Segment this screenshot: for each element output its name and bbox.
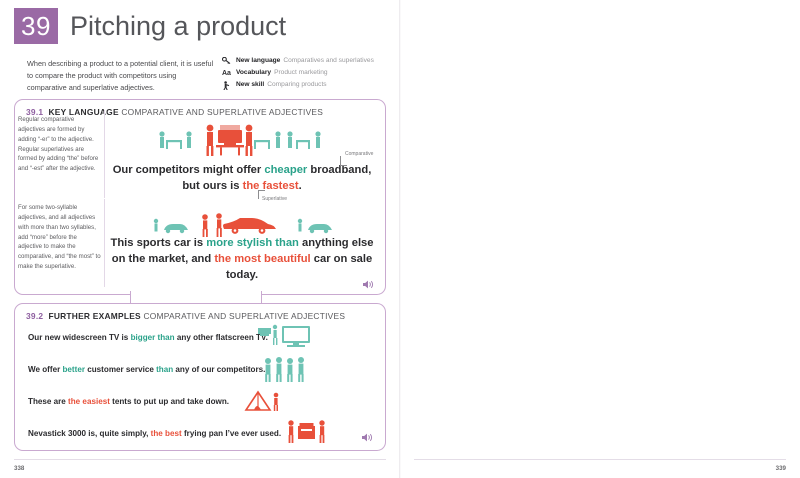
key-icon xyxy=(222,57,236,65)
objective-label: New language xyxy=(236,57,280,66)
section-39-2-header: 39.2 FURTHER EXAMPLES COMPARATIVE AND SU… xyxy=(15,304,385,321)
speaker-icon[interactable] xyxy=(363,280,374,289)
tent-icon xyxy=(243,390,281,412)
highlight-word-2: than xyxy=(156,365,173,374)
objective-label: Vocabulary xyxy=(236,69,271,78)
further-example-1: Our new widescreen TV is bigger than any… xyxy=(28,333,268,342)
superlative-word: the most beautiful xyxy=(214,253,310,265)
grammar-note-two-syllable: For some two-syllable adjectives, and al… xyxy=(18,203,102,272)
page-number-left: 338 xyxy=(14,465,24,472)
page-left: 39 Pitching a product When describing a … xyxy=(0,0,400,478)
highlight-word: bigger than xyxy=(131,333,175,342)
cars-illustration xyxy=(150,212,335,238)
column-divider xyxy=(104,199,105,287)
section-kind: FURTHER EXAMPLES xyxy=(48,311,140,321)
line-post: any of our competitors. xyxy=(173,365,265,374)
person-icon xyxy=(222,81,236,90)
comparative-word: cheaper xyxy=(264,164,307,176)
page-title: Pitching a product xyxy=(70,8,286,44)
people-icon xyxy=(262,356,310,382)
section-title: COMPARATIVE AND SUPERLATIVE ADJECTIVES xyxy=(143,311,345,321)
example-post: . xyxy=(299,180,302,192)
comparative-word: more stylish than xyxy=(206,237,299,249)
unit-header: 39 Pitching a product xyxy=(14,8,286,44)
unit-intro-text: When describing a product to a potential… xyxy=(27,58,217,94)
highlight-word: the best xyxy=(151,429,182,438)
book-spread: 39 Pitching a product When describing a … xyxy=(0,0,800,478)
line-mid: customer service xyxy=(85,365,156,374)
line-pre: These are xyxy=(28,397,68,406)
highlight-word: better xyxy=(62,365,85,374)
office-illustration xyxy=(150,118,330,158)
objective-desc: Comparing products xyxy=(267,81,326,90)
objective-label: New skill xyxy=(236,81,264,90)
page-right: 39.3 REWRITE THE SENTENCES, CORRECTING T… xyxy=(400,0,800,478)
further-example-4: Nevastick 3000 is, quite simply, the bes… xyxy=(28,429,281,438)
objective-desc: Comparatives and superlatives xyxy=(283,57,374,66)
objective-desc: Product marketing xyxy=(274,69,328,78)
page-number-right: 339 xyxy=(776,465,786,472)
objective-new-language: New language Comparatives and superlativ… xyxy=(222,57,397,66)
further-example-2: We offer better customer service than an… xyxy=(28,365,265,374)
further-example-3: These are the easiest tents to put up an… xyxy=(28,397,229,406)
line-post: any other flatscreen TV. xyxy=(175,333,268,342)
page-rule xyxy=(14,459,386,460)
speaker-icon[interactable] xyxy=(362,433,373,442)
objectives-list: New language Comparatives and superlativ… xyxy=(222,57,397,93)
section-title: COMPARATIVE AND SUPERLATIVE ADJECTIVES xyxy=(121,107,323,117)
callout-comparative: Comparative xyxy=(345,151,373,157)
column-divider xyxy=(104,110,105,198)
superlative-word: the fastest xyxy=(243,180,299,192)
line-post: tents to put up and take down. xyxy=(110,397,229,406)
tv-icon xyxy=(258,322,314,348)
aa-icon: Aa xyxy=(222,69,236,78)
panel-connector xyxy=(130,291,262,303)
highlight-word: the easiest xyxy=(68,397,110,406)
key-example-1: Our competitors might offer cheaper broa… xyxy=(108,163,376,195)
grammar-note-regular: Regular comparative adjectives are forme… xyxy=(18,115,102,174)
page-rule xyxy=(414,459,786,460)
example-pre: Our competitors might offer xyxy=(113,164,265,176)
key-example-2: This sports car is more stylish than any… xyxy=(108,236,376,284)
unit-number-badge: 39 xyxy=(14,8,58,44)
line-pre: Nevastick 3000 is, quite simply, xyxy=(28,429,151,438)
line-pre: We offer xyxy=(28,365,62,374)
line-pre: Our new widescreen TV is xyxy=(28,333,131,342)
callout-superlative: Superlative xyxy=(262,196,287,202)
callout-leader-comparative xyxy=(340,156,347,166)
objective-vocabulary: Aa Vocabulary Product marketing xyxy=(222,69,397,78)
line-post: frying pan I’ve ever used. xyxy=(182,429,281,438)
section-number: 39.2 xyxy=(26,311,43,321)
pan-icon xyxy=(286,418,328,444)
objective-new-skill: New skill Comparing products xyxy=(222,81,397,90)
example-pre: This sports car is xyxy=(111,237,207,249)
